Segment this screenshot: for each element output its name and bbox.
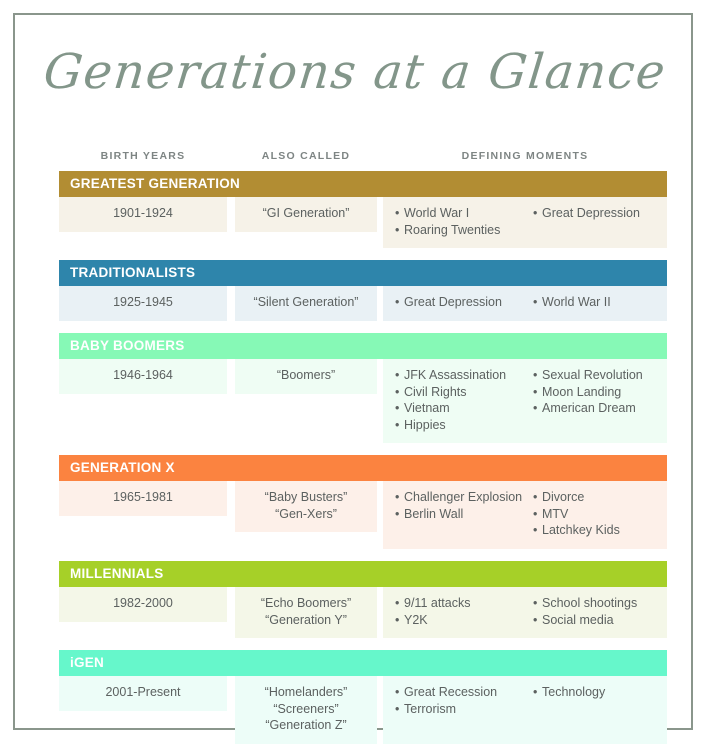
generation-row: 1982-2000“Echo Boomers”“Generation Y”9/1… <box>59 587 667 638</box>
also-called-item: “Homelanders” <box>235 684 377 701</box>
cell-also-called: “Boomers” <box>235 359 377 394</box>
row-spacer <box>59 549 667 561</box>
cell-defining-moments: Great DepressionWorld War II <box>383 286 667 321</box>
defining-moment-item: Vietnam <box>395 400 531 417</box>
defining-moment-item: Great Depression <box>533 205 667 222</box>
defining-moment-item: Terrorism <box>395 701 531 718</box>
generation-block: GENERATION X1965-1981“Baby Busters”“Gen-… <box>59 455 667 549</box>
also-called-item: “Gen-Xers” <box>235 506 377 523</box>
column-header-also-called: ALSO CALLED <box>235 149 377 163</box>
cell-birth-years: 1946-1964 <box>59 359 227 394</box>
page-title: Generations at a Glance <box>41 43 669 101</box>
also-called-item: “Generation Y” <box>235 612 377 629</box>
defining-moment-item: Great Recession <box>395 684 531 701</box>
defining-moment-item: School shootings <box>533 595 667 612</box>
defining-moment-item: JFK Assassination <box>395 367 531 384</box>
defining-moment-item: Social media <box>533 612 667 629</box>
generation-row: 1901-1924“GI Generation”World War IRoari… <box>59 197 667 248</box>
generation-name: GREATEST GENERATION <box>70 171 240 197</box>
cell-birth-years: 1901-1924 <box>59 197 227 232</box>
defining-moment-item: Technology <box>533 684 667 701</box>
defining-moment-item: Latchkey Kids <box>533 522 667 539</box>
also-called-item: “Generation Z” <box>235 717 377 734</box>
generation-block: TRADITIONALISTS1925-1945“Silent Generati… <box>59 260 667 321</box>
cell-defining-moments: Challenger ExplosionBerlin WallDivorceMT… <box>383 481 667 549</box>
also-called-item: “Silent Generation” <box>235 294 377 311</box>
defining-moment-item: 9/11 attacks <box>395 595 531 612</box>
defining-moment-item: World War I <box>395 205 531 222</box>
generation-bar: MILLENNIALS <box>59 561 667 587</box>
defining-moments-column-left: Great RecessionTerrorism <box>395 684 531 717</box>
defining-moments-column-left: World War IRoaring Twenties <box>395 205 531 238</box>
generation-bar: GENERATION X <box>59 455 667 481</box>
also-called-item: “GI Generation” <box>235 205 377 222</box>
generation-name: BABY BOOMERS <box>70 333 185 359</box>
column-header-birth-years: BIRTH YEARS <box>59 149 227 163</box>
row-spacer <box>59 248 667 260</box>
defining-moment-item: Sexual Revolution <box>533 367 667 384</box>
generation-name: MILLENNIALS <box>70 561 164 587</box>
row-spacer <box>59 638 667 650</box>
defining-moment-item: Hippies <box>395 417 531 434</box>
defining-moments-column-left: JFK AssassinationCivil RightsVietnamHipp… <box>395 367 531 433</box>
defining-moment-item: Moon Landing <box>533 384 667 401</box>
generation-row: 1965-1981“Baby Busters”“Gen-Xers”Challen… <box>59 481 667 549</box>
defining-moments-column-left: Challenger ExplosionBerlin Wall <box>395 489 531 522</box>
generation-block: iGEN2001-Present“Homelanders”“Screeners”… <box>59 650 667 744</box>
generation-block: GREATEST GENERATION1901-1924“GI Generati… <box>59 171 667 248</box>
also-called-item: “Boomers” <box>235 367 377 384</box>
generation-bar: iGEN <box>59 650 667 676</box>
row-spacer <box>59 321 667 333</box>
cell-also-called: “GI Generation” <box>235 197 377 232</box>
cell-birth-years: 1965-1981 <box>59 481 227 516</box>
defining-moment-item: Great Depression <box>395 294 531 311</box>
defining-moment-item: Berlin Wall <box>395 506 531 523</box>
defining-moment-item: Challenger Explosion <box>395 489 531 506</box>
generation-row: 2001-Present“Homelanders”“Screeners”“Gen… <box>59 676 667 744</box>
defining-moments-column-right: Great Depression <box>533 205 667 222</box>
page-title-wrapper: Generations at a Glance <box>15 43 695 101</box>
defining-moment-item: MTV <box>533 506 667 523</box>
cell-also-called: “Baby Busters”“Gen-Xers” <box>235 481 377 532</box>
cell-birth-years: 1982-2000 <box>59 587 227 622</box>
defining-moment-item: Civil Rights <box>395 384 531 401</box>
defining-moment-item: Roaring Twenties <box>395 222 531 239</box>
generation-block: MILLENNIALS1982-2000“Echo Boomers”“Gener… <box>59 561 667 638</box>
cell-birth-years: 2001-Present <box>59 676 227 711</box>
column-headers: BIRTH YEARS ALSO CALLED DEFINING MOMENTS <box>59 149 667 171</box>
generation-name: GENERATION X <box>70 455 175 481</box>
generation-bar: GREATEST GENERATION <box>59 171 667 197</box>
cell-also-called: “Silent Generation” <box>235 286 377 321</box>
defining-moments-column-right: World War II <box>533 294 667 311</box>
defining-moments-column-right: DivorceMTVLatchkey Kids <box>533 489 667 539</box>
defining-moment-item: World War II <box>533 294 667 311</box>
defining-moments-column-left: 9/11 attacksY2K <box>395 595 531 628</box>
cell-defining-moments: World War IRoaring TwentiesGreat Depress… <box>383 197 667 248</box>
defining-moment-item: Divorce <box>533 489 667 506</box>
defining-moments-column-left: Great Depression <box>395 294 531 311</box>
cell-defining-moments: Great RecessionTerrorismTechnology <box>383 676 667 744</box>
defining-moment-item: American Dream <box>533 400 667 417</box>
defining-moments-column-right: Sexual RevolutionMoon LandingAmerican Dr… <box>533 367 667 417</box>
cell-defining-moments: JFK AssassinationCivil RightsVietnamHipp… <box>383 359 667 443</box>
cell-also-called: “Homelanders”“Screeners”“Generation Z” <box>235 676 377 744</box>
generation-name: TRADITIONALISTS <box>70 260 195 286</box>
defining-moments-column-right: Technology <box>533 684 667 701</box>
defining-moment-item: Y2K <box>395 612 531 629</box>
also-called-item: “Baby Busters” <box>235 489 377 506</box>
cell-defining-moments: 9/11 attacksY2KSchool shootingsSocial me… <box>383 587 667 638</box>
cell-also-called: “Echo Boomers”“Generation Y” <box>235 587 377 638</box>
generation-row: 1946-1964“Boomers”JFK AssassinationCivil… <box>59 359 667 443</box>
infographic-frame: Generations at a Glance BIRTH YEARS ALSO… <box>13 13 693 730</box>
row-spacer <box>59 443 667 455</box>
also-called-item: “Echo Boomers” <box>235 595 377 612</box>
cell-birth-years: 1925-1945 <box>59 286 227 321</box>
generation-block: BABY BOOMERS1946-1964“Boomers”JFK Assass… <box>59 333 667 443</box>
also-called-item: “Screeners” <box>235 701 377 718</box>
generation-bar: TRADITIONALISTS <box>59 260 667 286</box>
column-header-defining-moments: DEFINING MOMENTS <box>383 149 667 163</box>
generation-name: iGEN <box>70 650 104 676</box>
generation-bar: BABY BOOMERS <box>59 333 667 359</box>
defining-moments-column-right: School shootingsSocial media <box>533 595 667 628</box>
generation-row: 1925-1945“Silent Generation”Great Depres… <box>59 286 667 321</box>
generations-table: GREATEST GENERATION1901-1924“GI Generati… <box>59 171 667 744</box>
